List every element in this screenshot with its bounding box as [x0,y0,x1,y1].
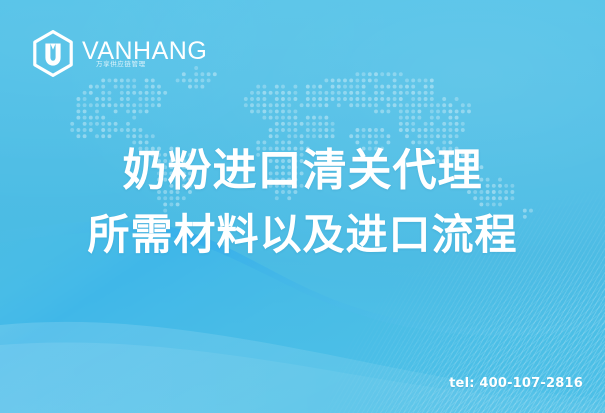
headline-line-1: 奶粉进口清关代理 [0,143,605,199]
promo-banner: VANHANG 万享供应链管理 奶粉进口清关代理 所需材料以及进口流程 tel:… [0,0,605,413]
hexagon-u-logo-icon [30,30,76,77]
logo-subtext: 万享供应链管理 [96,58,146,68]
headline-block: 奶粉进口清关代理 所需材料以及进口流程 [0,143,605,263]
brand-logo[interactable]: VANHANG 万享供应链管理 [30,30,182,77]
headline-line-2: 所需材料以及进口流程 [0,207,605,263]
contact-telephone[interactable]: tel: 400-107-2816 [449,376,583,391]
